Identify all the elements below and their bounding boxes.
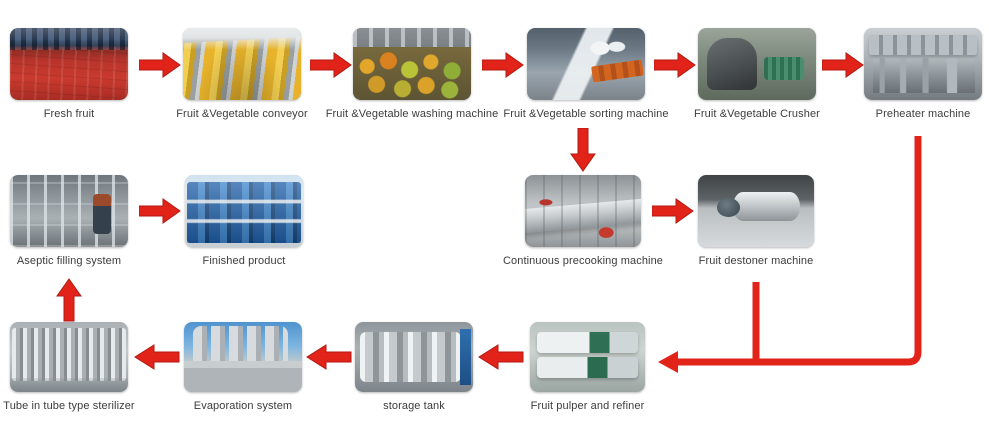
process-node-label: Fruit &Vegetable Crusher <box>694 108 820 121</box>
process-node-thumbnail <box>184 322 302 392</box>
crusher-photo <box>698 28 816 100</box>
precooking-photo <box>525 175 641 247</box>
sorting-machine-photo <box>527 28 645 100</box>
process-node-pulper-refiner[interactable]: Fruit pulper and refiner <box>530 322 645 392</box>
flow-arrow-pulper-to-storage <box>478 344 524 370</box>
process-node-preheater[interactable]: Preheater machine <box>864 28 982 100</box>
process-node-label: Continuous precooking machine <box>503 255 663 268</box>
process-node-label: Finished product <box>203 255 286 268</box>
process-node-thumbnail <box>698 28 816 100</box>
process-node-label: Aseptic filling system <box>17 255 121 268</box>
process-node-storage-tank[interactable]: storage tank <box>355 322 473 392</box>
process-node-sterilizer[interactable]: Tube in tube type sterilizer <box>10 322 128 392</box>
flow-arrow-evaporation-to-sterilizer <box>134 344 180 370</box>
flow-arrow-storage-to-evaporation <box>306 344 352 370</box>
process-node-label: Fruit &Vegetable sorting machine <box>503 108 668 121</box>
flow-arrow-aseptic-to-finished <box>139 198 181 224</box>
process-flow-diagram: Fresh fruit Fruit &Vegetable conveyor Fr… <box>0 0 989 427</box>
process-node-precooking[interactable]: Continuous precooking machine <box>525 175 641 247</box>
storage-tank-photo <box>355 322 473 392</box>
pulper-refiner-photo <box>530 322 645 392</box>
flow-arrow-sterilizer-to-aseptic <box>56 278 82 322</box>
process-node-thumbnail <box>530 322 645 392</box>
process-node-label: Fruit &Vegetable washing machine <box>326 108 499 121</box>
flow-arrow-crusher-to-preheater <box>822 52 864 78</box>
process-node-thumbnail <box>527 28 645 100</box>
process-node-sorting-machine[interactable]: Fruit &Vegetable sorting machine <box>527 28 645 100</box>
flow-arrow-sorting-to-precooking <box>570 128 596 172</box>
process-node-thumbnail <box>10 28 128 100</box>
evaporation-photo <box>184 322 302 392</box>
flow-arrow-conveyor-to-washing <box>310 52 352 78</box>
process-node-conveyor[interactable]: Fruit &Vegetable conveyor <box>183 28 301 100</box>
process-node-thumbnail <box>185 175 303 247</box>
process-node-label: Tube in tube type sterilizer <box>3 400 134 413</box>
process-node-finished-product[interactable]: Finished product <box>185 175 303 247</box>
washing-machine-photo <box>353 28 471 100</box>
process-node-label: Fruit pulper and refiner <box>531 400 645 413</box>
process-node-crusher[interactable]: Fruit &Vegetable Crusher <box>698 28 816 100</box>
process-node-aseptic-filling[interactable]: Aseptic filling system <box>10 175 128 247</box>
process-node-label: Fresh fruit <box>44 108 95 121</box>
flow-arrow-fresh-fruit-to-conveyor <box>139 52 181 78</box>
finished-product-photo <box>185 175 303 247</box>
preheater-photo <box>864 28 982 100</box>
process-node-thumbnail <box>10 322 128 392</box>
process-node-thumbnail <box>183 28 301 100</box>
pipe-preheater-to-pulper <box>650 130 940 375</box>
process-node-thumbnail <box>353 28 471 100</box>
process-node-label: Preheater machine <box>876 108 971 121</box>
process-node-label: storage tank <box>383 400 445 413</box>
process-node-fresh-fruit[interactable]: Fresh fruit <box>10 28 128 100</box>
process-node-label: Fruit &Vegetable conveyor <box>176 108 308 121</box>
process-node-thumbnail <box>10 175 128 247</box>
process-node-evaporation[interactable]: Evaporation system <box>184 322 302 392</box>
process-node-thumbnail <box>525 175 641 247</box>
sterilizer-photo <box>10 322 128 392</box>
process-node-washing-machine[interactable]: Fruit &Vegetable washing machine <box>353 28 471 100</box>
aseptic-filling-photo <box>10 175 128 247</box>
fresh-fruit-photo <box>10 28 128 100</box>
conveyor-photo <box>183 28 301 100</box>
process-node-label: Evaporation system <box>194 400 292 413</box>
process-node-thumbnail <box>864 28 982 100</box>
flow-arrow-washing-to-sorting <box>482 52 524 78</box>
flow-arrow-sorting-to-crusher <box>654 52 696 78</box>
process-node-thumbnail <box>355 322 473 392</box>
